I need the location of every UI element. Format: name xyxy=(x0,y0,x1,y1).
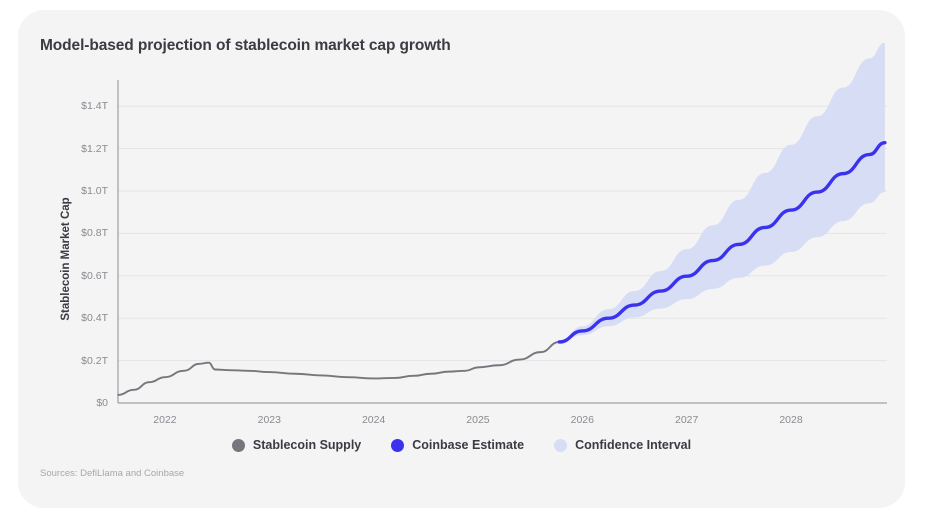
series-line-stablecoin-supply xyxy=(118,342,559,395)
y-tick-label: $0.2T xyxy=(40,355,108,367)
chart-plot-area: Stablecoin Market Cap $0$0.2T$0.4T$0.6T$… xyxy=(18,10,905,508)
circle-marker-icon xyxy=(232,439,245,452)
y-tick-label: $0 xyxy=(40,397,108,409)
x-tick-label: 2028 xyxy=(779,414,802,426)
x-tick-label: 2026 xyxy=(571,414,594,426)
y-tick-label: $0.6T xyxy=(40,270,108,282)
y-tick-label: $1.0T xyxy=(40,185,108,197)
legend-item[interactable]: Stablecoin Supply xyxy=(232,438,361,452)
y-tick-label: $0.8T xyxy=(40,227,108,239)
y-tick-label: $0.4T xyxy=(40,312,108,324)
chart-svg xyxy=(18,10,905,508)
chart-card: Model-based projection of stablecoin mar… xyxy=(18,10,905,508)
x-tick-label: 2027 xyxy=(675,414,698,426)
legend-item-label: Coinbase Estimate xyxy=(412,438,524,452)
y-tick-label: $1.2T xyxy=(40,143,108,155)
legend-item-label: Stablecoin Supply xyxy=(253,438,361,452)
x-tick-label: 2022 xyxy=(153,414,176,426)
x-tick-label: 2024 xyxy=(362,414,385,426)
legend-item[interactable]: Confidence Interval xyxy=(554,438,691,452)
confidence-band-area xyxy=(559,43,885,343)
x-tick-label: 2023 xyxy=(258,414,281,426)
y-tick-label: $1.4T xyxy=(40,100,108,112)
legend-item[interactable]: Coinbase Estimate xyxy=(391,438,524,452)
legend-item-label: Confidence Interval xyxy=(575,438,691,452)
x-tick-label: 2025 xyxy=(466,414,489,426)
circle-marker-icon xyxy=(554,439,567,452)
sources-note: Sources: DefiLlama and Coinbase xyxy=(40,468,184,479)
circle-marker-icon xyxy=(391,439,404,452)
chart-legend: Stablecoin SupplyCoinbase EstimateConfid… xyxy=(18,438,905,452)
confidence-interval-band xyxy=(559,43,885,343)
